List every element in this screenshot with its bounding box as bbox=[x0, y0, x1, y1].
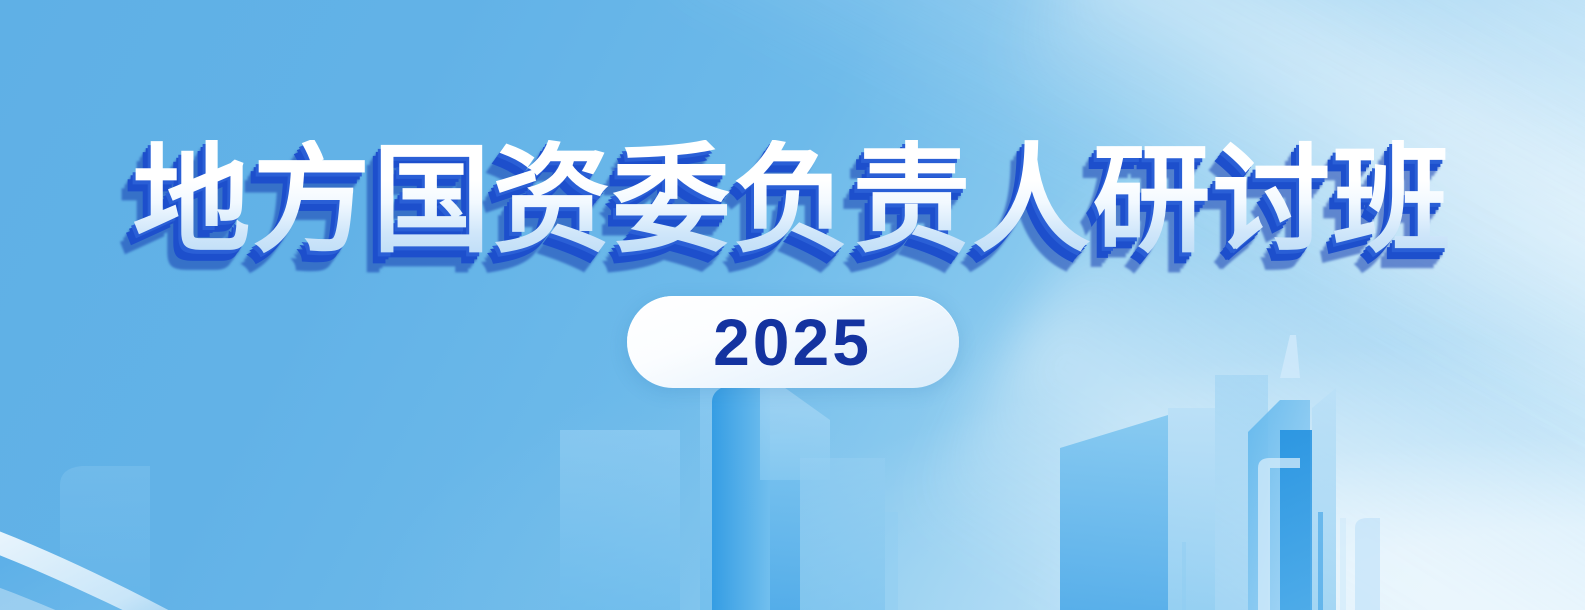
page-title: 地方国资委负责人研讨班 bbox=[132, 140, 1452, 260]
year-badge: 2025 bbox=[627, 296, 959, 388]
event-banner: 地方国资委负责人研讨班 2025 bbox=[0, 0, 1585, 610]
year-badge-label: 2025 bbox=[713, 309, 872, 375]
banner-content: 地方国资委负责人研讨班 2025 bbox=[0, 0, 1585, 610]
